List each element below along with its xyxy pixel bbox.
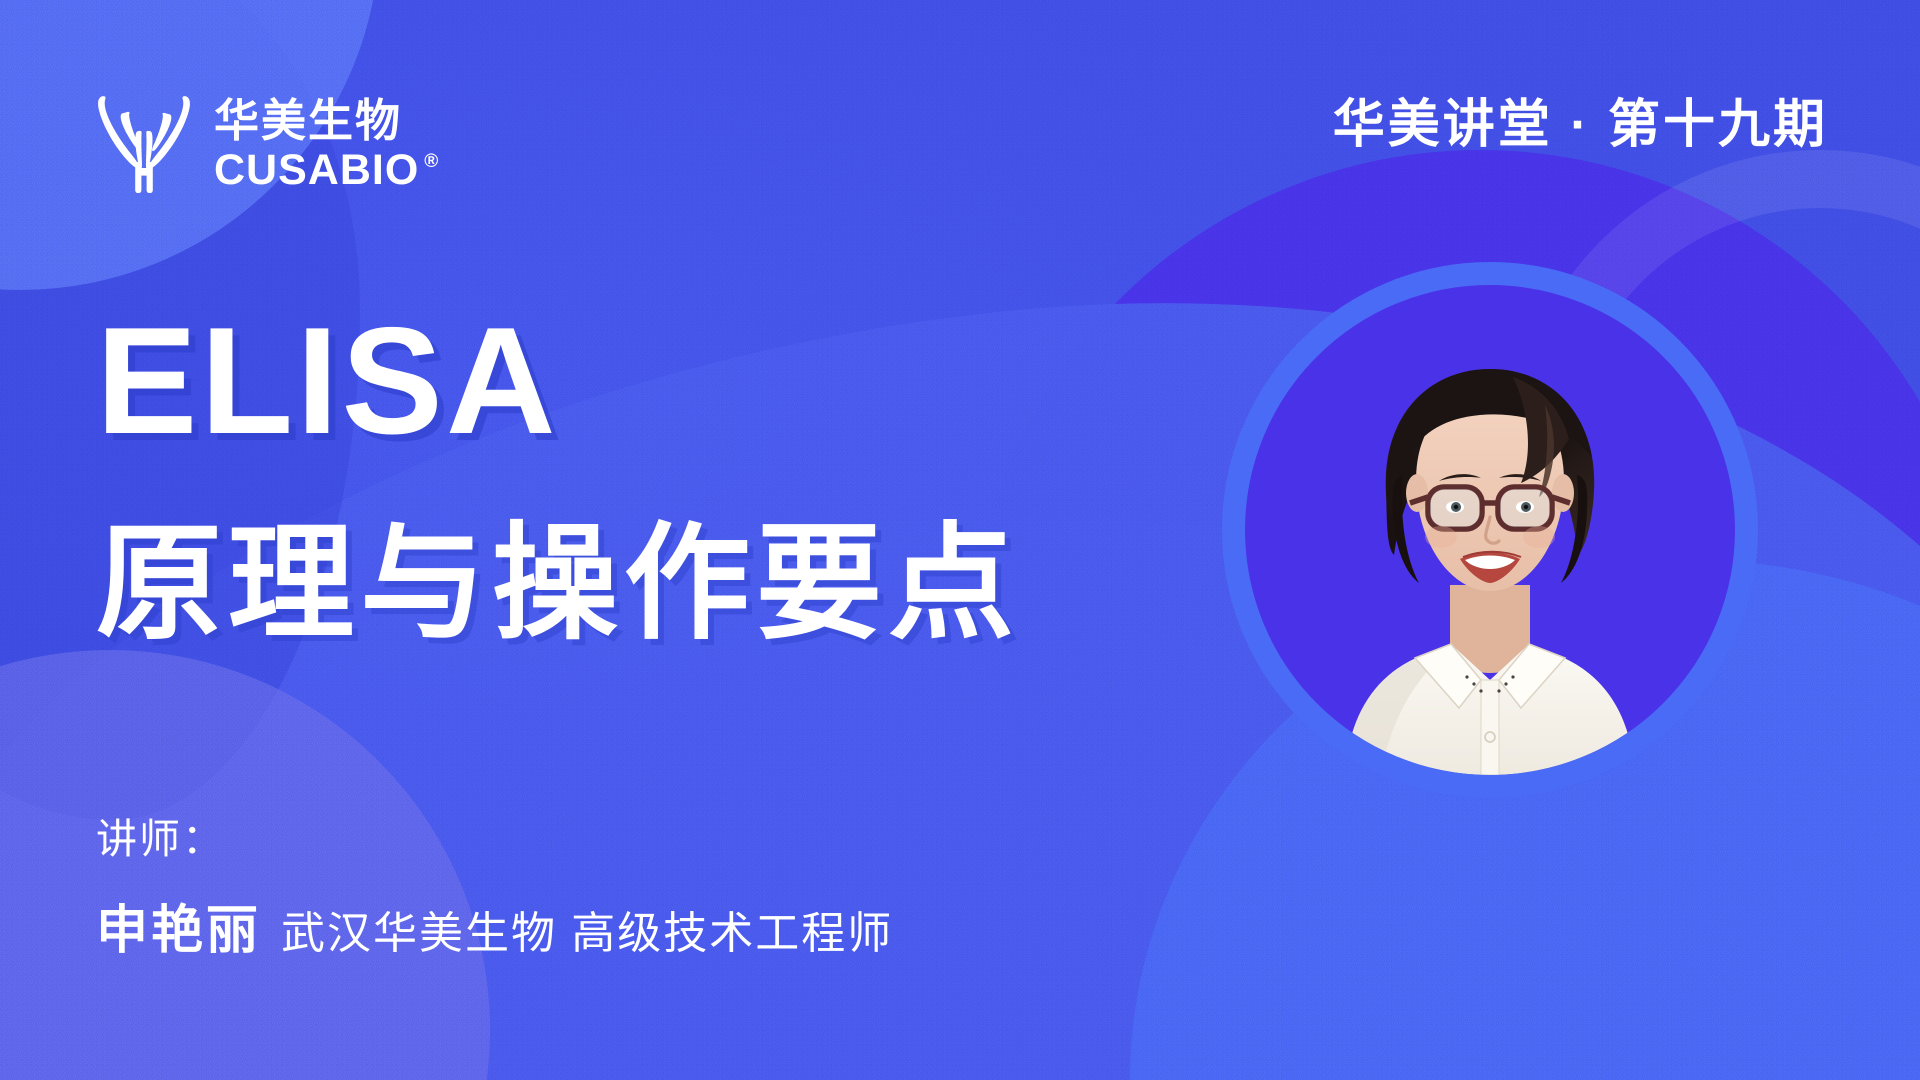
speaker-affiliation: 武汉华美生物 高级技术工程师 <box>281 897 893 961</box>
brand-name-chinese: 华美生物 <box>214 98 438 143</box>
speaker-portrait <box>1222 262 1758 798</box>
registered-trademark-icon: ® <box>424 152 438 171</box>
cusabio-hands-leaf-icon <box>92 76 196 194</box>
series-badge: 华美讲堂 · 第十九期 <box>1333 82 1828 157</box>
portrait-ring <box>1222 262 1758 798</box>
brand-logo-text: 华美生物 CUSABIO ® <box>214 98 438 194</box>
page-subtitle: 原理与操作要点 <box>96 510 1020 659</box>
speaker-label: 讲师： <box>96 805 225 865</box>
webinar-poster: 华美生物 CUSABIO ® 华美讲堂 · 第十九期 ELISA 原理与操作要点… <box>0 0 1920 1080</box>
brand-logo: 华美生物 CUSABIO ® <box>92 76 438 194</box>
speaker-info: 申艳丽 武汉华美生物 高级技术工程师 <box>96 888 893 963</box>
brand-name-english-row: CUSABIO ® <box>214 149 438 192</box>
page-title: ELISA <box>96 305 559 457</box>
brand-name-english: CUSABIO <box>214 149 419 192</box>
speaker-name: 申艳丽 <box>96 888 261 963</box>
